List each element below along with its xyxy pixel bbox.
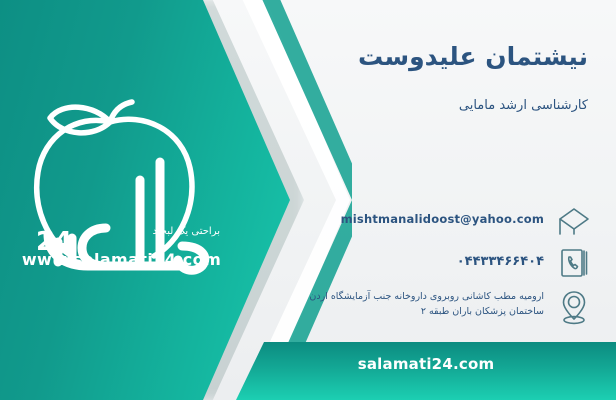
bottom-banner-url[interactable]: salamati24.com bbox=[236, 342, 616, 400]
contact-list: mishtmanalidoost@yahoo.com ۰۴۴۳۳۴۶۶۴۰۴ bbox=[304, 205, 594, 335]
address-value: ارومیه مطب کاشانی روبروی داروخانه جنب آز… bbox=[309, 287, 544, 319]
phone-book-icon bbox=[554, 247, 594, 279]
address-line-1: ارومیه مطب کاشانی روبروی داروخانه جنب آز… bbox=[309, 289, 544, 304]
envelope-icon bbox=[554, 205, 594, 239]
address-line-2: ساختمان پزشکان باران طبقه ۲ bbox=[309, 304, 544, 319]
location-pin-icon bbox=[554, 287, 594, 327]
contact-row-address[interactable]: ارومیه مطب کاشانی روبروی داروخانه جنب آز… bbox=[304, 287, 594, 327]
business-card: 24 براحتی یک لبخند www.salamati24.com نی… bbox=[0, 0, 616, 400]
logo-tagline: براحتی یک لبخند bbox=[14, 226, 220, 237]
person-title: کارشناسی ارشد مامایی bbox=[459, 98, 588, 113]
phone-value[interactable]: ۰۴۴۳۳۴۶۶۴۰۴ bbox=[457, 247, 544, 272]
contact-row-email[interactable]: mishtmanalidoost@yahoo.com bbox=[304, 205, 594, 239]
logo-url: www.salamati24.com bbox=[14, 250, 229, 269]
email-value[interactable]: mishtmanalidoost@yahoo.com bbox=[341, 205, 544, 228]
person-name: نیشتمان علیدوست bbox=[358, 42, 588, 71]
contact-row-phone[interactable]: ۰۴۴۳۳۴۶۶۴۰۴ bbox=[304, 247, 594, 279]
chevron-outline-icon bbox=[232, 0, 352, 400]
